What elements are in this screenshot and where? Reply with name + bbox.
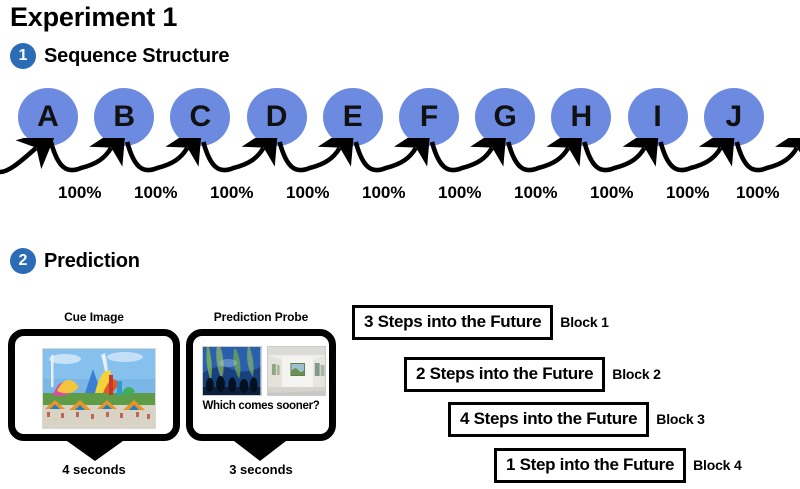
probe-option-pair [202,346,326,394]
section-header-sequence-structure: 1 Sequence Structure [10,43,229,69]
block-row-4: 1 Step into the FutureBlock 4 [494,448,742,483]
sequence-arrow-2 [127,142,187,170]
sequence-arrow-6 [432,142,492,170]
sequence-arrow-incoming [0,148,36,172]
amusement-park-photo [42,348,156,429]
section-title-1: Sequence Structure [44,45,229,68]
section-badge-2: 2 [10,248,36,274]
page-title: Experiment 1 [10,1,177,33]
block-label-4: Block 4 [693,457,741,473]
cue-duration: 4 seconds [8,462,180,477]
transition-probability-5: 100% [362,183,405,203]
probe-monitor-stand [234,441,286,461]
transition-probability-10: 100% [736,183,779,203]
sequence-arrow-5 [356,142,416,170]
cue-monitor-stand [67,441,123,461]
probe-caption: Prediction Probe [186,310,336,324]
block-row-2: 2 Steps into the FutureBlock 2 [404,357,661,392]
block-condition-2[interactable]: 2 Steps into the Future [404,357,605,392]
sequence-arrow-4 [280,142,340,170]
block-condition-1[interactable]: 3 Steps into the Future [352,305,553,340]
block-row-3: 4 Steps into the FutureBlock 3 [448,402,705,437]
block-condition-4[interactable]: 1 Step into the Future [494,448,686,483]
section-header-prediction: 2 Prediction [10,248,140,274]
transition-probability-3: 100% [210,183,253,203]
block-condition-3[interactable]: 4 Steps into the Future [448,402,649,437]
transition-probability-2: 100% [134,183,177,203]
sequence-arrow-10 [737,142,797,170]
probe-question: Which comes sooner? [193,400,329,412]
transition-probability-7: 100% [514,183,557,203]
experiment-figure: Experiment 1 1 Sequence Structure ABCDEF… [0,0,800,489]
transition-probability-1: 100% [58,183,101,203]
transition-probability-6: 100% [438,183,481,203]
section-title-2: Prediction [44,250,140,273]
art-gallery-photo[interactable] [267,346,327,396]
block-label-2: Block 2 [612,366,660,382]
cue-image-monitor: Cue Image [8,310,180,485]
probe-screen: Which comes sooner? [186,329,336,441]
transition-probability-4: 100% [286,183,329,203]
sequence-arrow-1 [51,142,111,170]
block-label-1: Block 1 [560,314,608,330]
transition-probability-8: 100% [590,183,633,203]
probe-duration: 3 seconds [186,462,336,477]
transition-probability-9: 100% [666,183,709,203]
sequence-arrow-7 [508,142,568,170]
cue-caption: Cue Image [8,310,180,324]
cue-screen [8,329,180,441]
block-label-3: Block 3 [656,411,704,427]
sequence-arrow-9 [661,142,721,170]
section-badge-1: 1 [10,43,36,69]
sequence-arrow-3 [203,142,263,170]
block-row-1: 3 Steps into the FutureBlock 1 [352,305,609,340]
aquarium-photo[interactable] [202,346,262,396]
prediction-probe-monitor: Prediction Probe [186,310,336,485]
transition-probability-row: 100%100%100%100%100%100%100%100%100%100% [0,183,800,207]
sequence-arrow-8 [584,142,644,170]
